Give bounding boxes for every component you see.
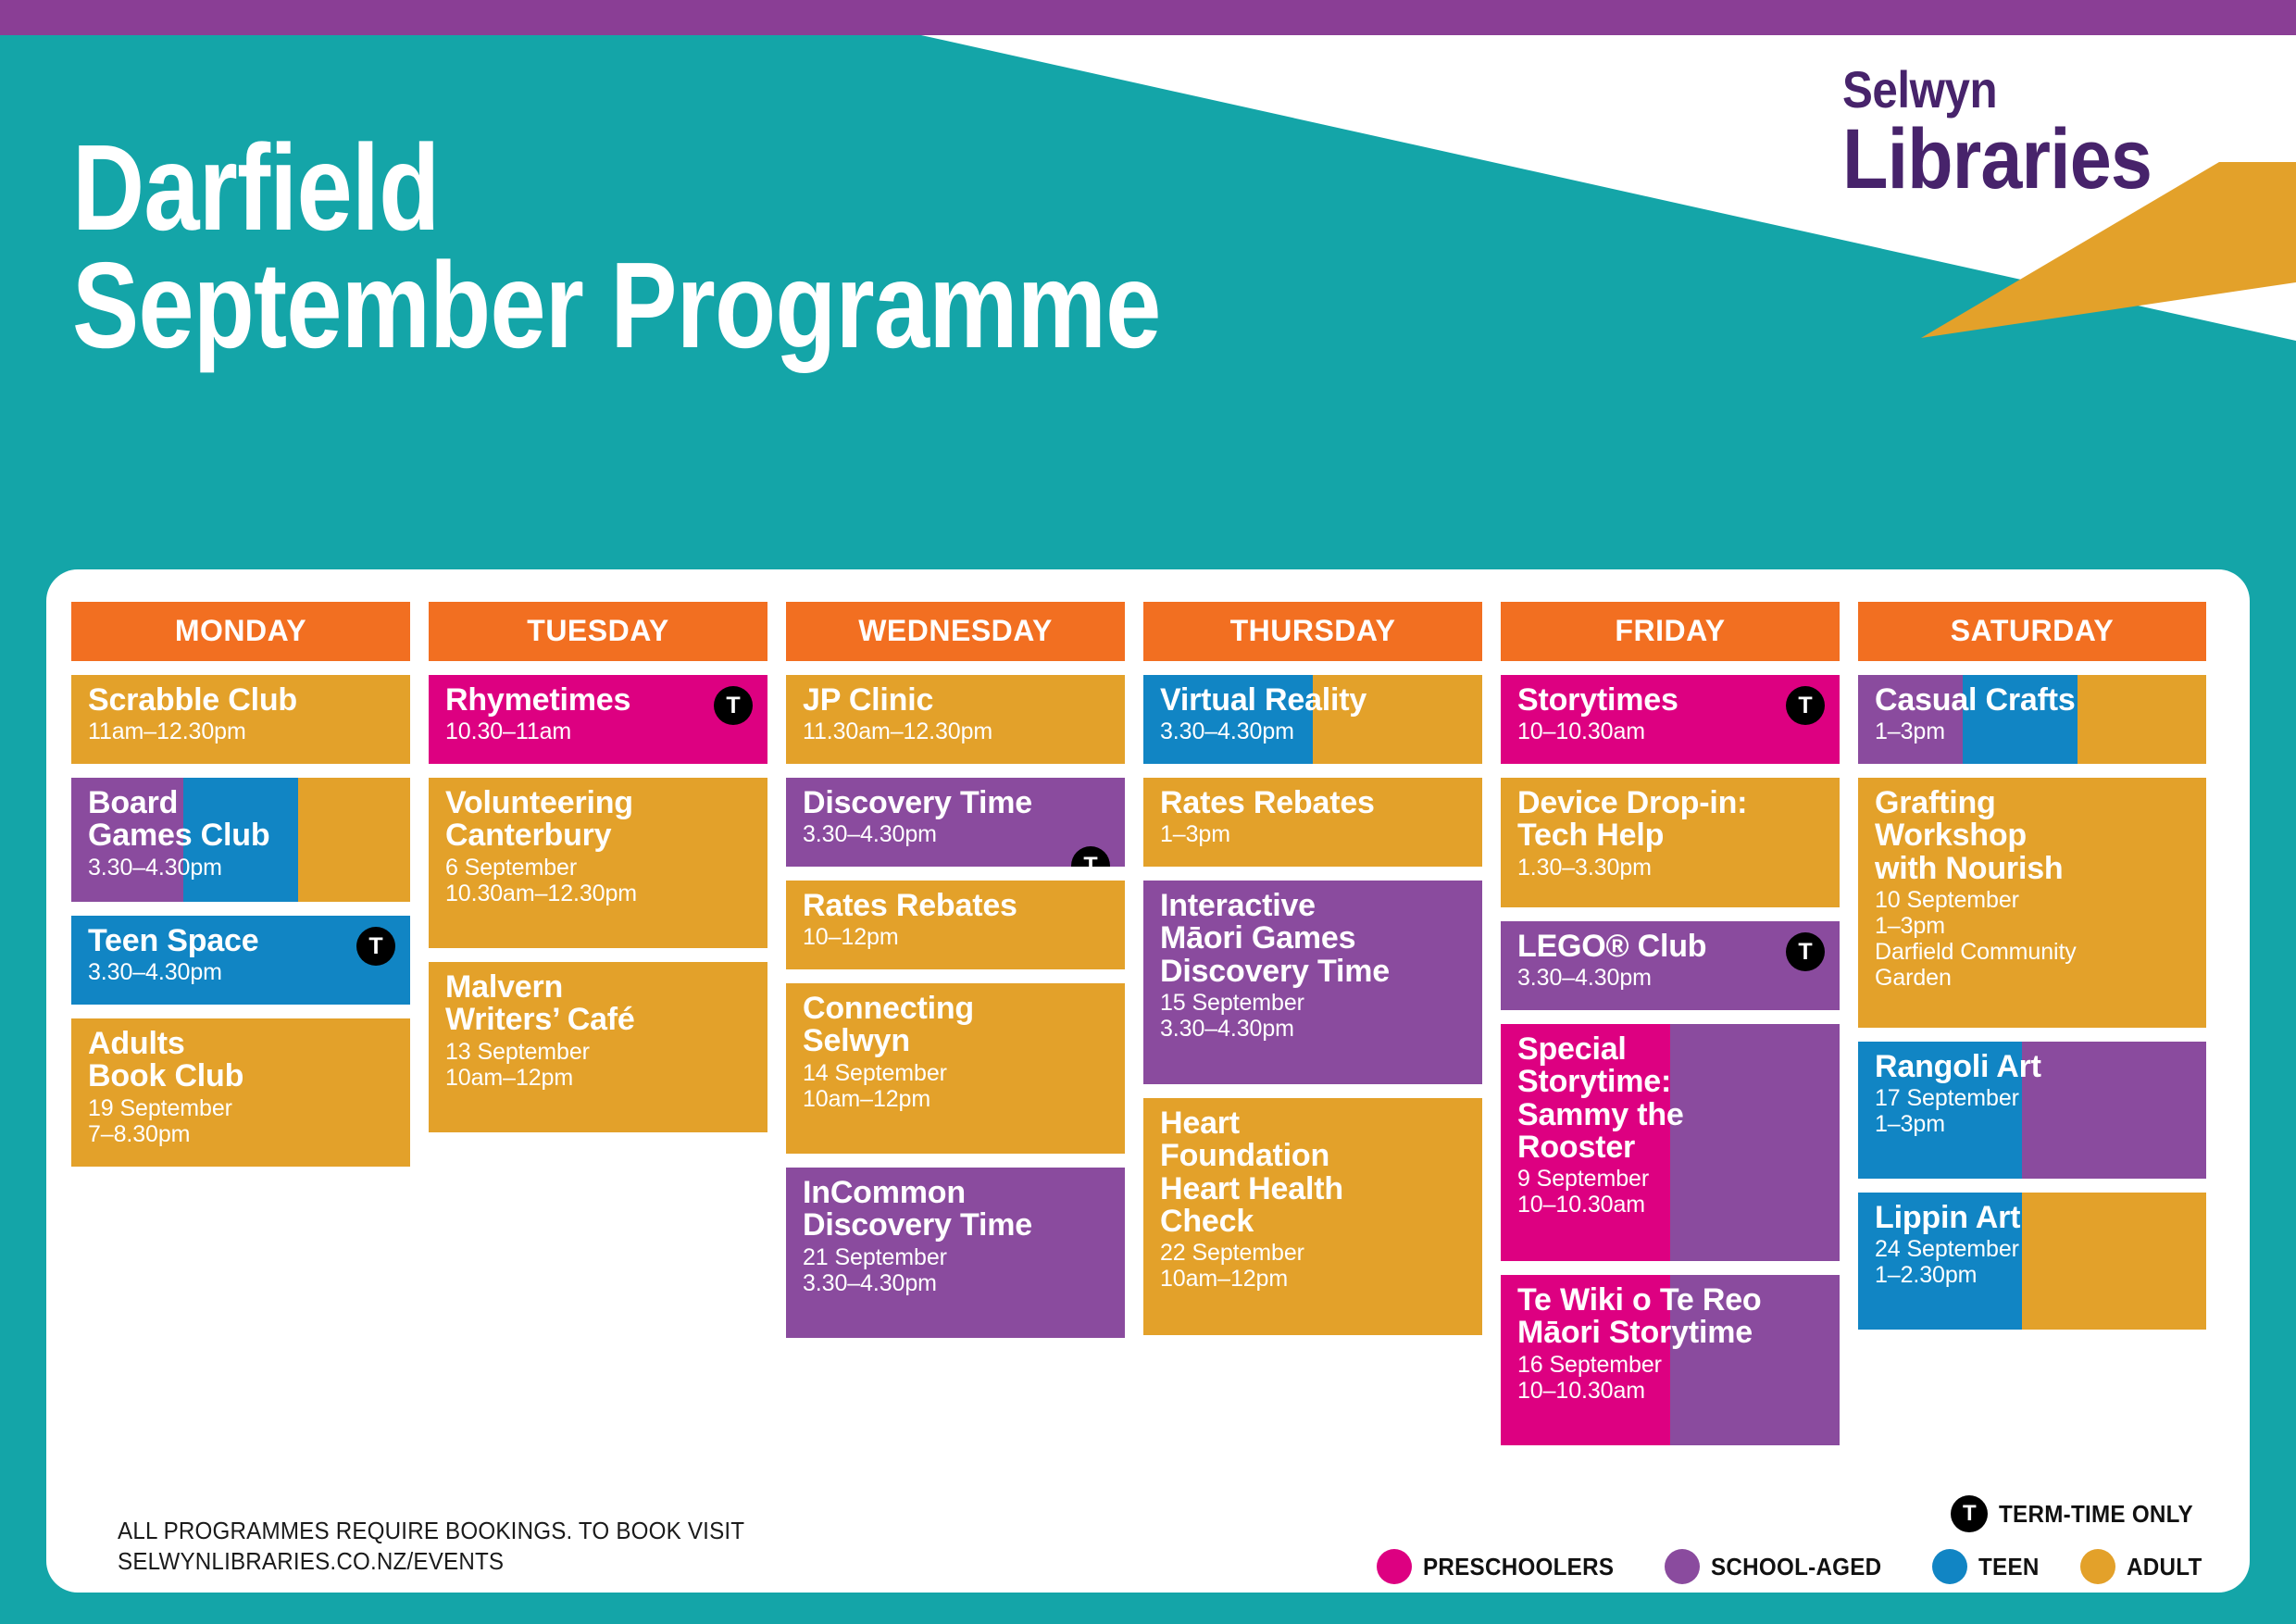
event-details: 3.30–4.30pm [88, 855, 393, 881]
legend-swatch-icon [1377, 1549, 1412, 1584]
legend-label: SCHOOL-AGED [1711, 1553, 1881, 1581]
event-card[interactable]: Virtual Reality3.30–4.30pm [1143, 675, 1482, 764]
event-card[interactable]: LEGO® Club3.30–4.30pmT [1501, 921, 1840, 1010]
day-column-saturday: SATURDAYCasual Crafts1–3pmGrafting Works… [1858, 602, 2206, 1459]
event-details: 9 September 10–10.30am [1517, 1166, 1823, 1218]
event-text: Special Storytime: Sammy the Rooster9 Se… [1517, 1033, 1823, 1218]
event-card[interactable]: Teen Space3.30–4.30pmT [71, 916, 410, 1005]
event-details: 19 September 7–8.30pm [88, 1095, 393, 1147]
event-details: 6 September 10.30am–12.30pm [445, 855, 751, 906]
event-title: Rates Rebates [803, 890, 1108, 922]
event-text: Connecting Selwyn14 September 10am–12pm [803, 993, 1108, 1112]
event-text: Heart Foundation Heart Health Check22 Se… [1160, 1107, 1466, 1292]
event-card[interactable]: Board Games Club3.30–4.30pm [71, 778, 410, 902]
event-text: Rates Rebates10–12pm [803, 890, 1108, 950]
event-details: 11.30am–12.30pm [803, 718, 1108, 744]
event-title: Lippin Art [1875, 1202, 2190, 1234]
booking-note: ALL PROGRAMMES REQUIRE BOOKINGS. TO BOOK… [118, 1516, 744, 1578]
page-title: Darfield September Programme [72, 130, 1160, 364]
day-header-wednesday: WEDNESDAY [786, 602, 1125, 661]
event-title: Device Drop-in: Tech Help [1517, 787, 1823, 853]
day-header-friday: FRIDAY [1501, 602, 1840, 661]
event-card[interactable]: Adults Book Club19 September 7–8.30pm [71, 1018, 410, 1167]
event-card[interactable]: Rangoli Art17 September 1–3pm [1858, 1042, 2206, 1179]
event-details: 22 September 10am–12pm [1160, 1240, 1466, 1292]
event-details: 10 September 1–3pm Darfield Community Ga… [1875, 887, 2190, 991]
event-card[interactable]: Heart Foundation Heart Health Check22 Se… [1143, 1098, 1482, 1335]
event-text: Volunteering Canterbury6 September 10.30… [445, 787, 751, 906]
event-details: 11am–12.30pm [88, 718, 393, 744]
event-title: Adults Book Club [88, 1028, 393, 1093]
event-text: Virtual Reality3.30–4.30pm [1160, 684, 1466, 744]
legend-item-preschoolers: PRESCHOOLERS [1377, 1549, 1628, 1584]
event-title: Connecting Selwyn [803, 993, 1108, 1058]
legend-swatch-icon [1665, 1549, 1700, 1584]
event-card[interactable]: Rates Rebates1–3pm [1143, 778, 1482, 867]
event-title: Discovery Time [803, 787, 1108, 819]
term-time-badge-icon: T [1786, 686, 1825, 725]
event-details: 21 September 3.30–4.30pm [803, 1244, 1108, 1296]
event-card[interactable]: Connecting Selwyn14 September 10am–12pm [786, 983, 1125, 1154]
legend-label: TEEN [1978, 1553, 2040, 1581]
brand-name-selwyn: Selwyn [1842, 65, 2152, 116]
event-details: 16 September 10–10.30am [1517, 1352, 1823, 1404]
event-card[interactable]: Discovery Time3.30–4.30pmT [786, 778, 1125, 867]
event-title: Board Games Club [88, 787, 393, 853]
event-title: Virtual Reality [1160, 684, 1466, 717]
event-details: 10–10.30am [1517, 718, 1823, 744]
event-text: Casual Crafts1–3pm [1875, 684, 2190, 744]
event-title: Interactive Māori Games Discovery Time [1160, 890, 1466, 988]
event-title: Malvern Writers’ Café [445, 971, 751, 1037]
event-card[interactable]: Scrabble Club11am–12.30pm [71, 675, 410, 764]
event-text: Grafting Workshop with Nourish10 Septemb… [1875, 787, 2190, 991]
event-title: Te Wiki o Te Reo Māori Storytime [1517, 1284, 1823, 1350]
event-details: 1.30–3.30pm [1517, 855, 1823, 881]
event-details: 10.30–11am [445, 718, 751, 744]
event-card[interactable]: Special Storytime: Sammy the Rooster9 Se… [1501, 1024, 1840, 1261]
event-text: Scrabble Club11am–12.30pm [88, 684, 393, 744]
event-text: Interactive Māori Games Discovery Time15… [1160, 890, 1466, 1042]
term-time-legend: T TERM-TIME ONLY [1951, 1495, 2208, 1532]
event-title: Grafting Workshop with Nourish [1875, 787, 2190, 885]
day-column-friday: FRIDAYStorytimes10–10.30amTDevice Drop-i… [1501, 602, 1840, 1459]
top-purple-bar [0, 0, 2296, 35]
event-text: Rangoli Art17 September 1–3pm [1875, 1051, 2190, 1137]
day-header-saturday: SATURDAY [1858, 602, 2206, 661]
week-grid: MONDAYScrabble Club11am–12.30pmBoard Gam… [71, 602, 2228, 1459]
legend-item-adult: ADULT [2080, 1549, 2208, 1584]
event-title: LEGO® Club [1517, 931, 1823, 963]
event-details: 3.30–4.30pm [1517, 965, 1823, 991]
event-card[interactable]: InCommon Discovery Time21 September 3.30… [786, 1168, 1125, 1338]
event-details: 1–3pm [1875, 718, 2190, 744]
event-card[interactable]: Volunteering Canterbury6 September 10.30… [429, 778, 767, 948]
event-details: 24 September 1–2.30pm [1875, 1236, 2190, 1288]
event-card[interactable]: Storytimes10–10.30amT [1501, 675, 1840, 764]
brand-name-libraries: Libraries [1842, 118, 2152, 201]
event-card[interactable]: Te Wiki o Te Reo Māori Storytime16 Septe… [1501, 1275, 1840, 1445]
day-column-wednesday: WEDNESDAYJP Clinic11.30am–12.30pmDiscove… [786, 602, 1125, 1459]
event-card[interactable]: Casual Crafts1–3pm [1858, 675, 2206, 764]
event-details: 13 September 10am–12pm [445, 1039, 751, 1091]
event-title: Storytimes [1517, 684, 1823, 717]
event-text: Rhymetimes10.30–11am [445, 684, 751, 744]
event-card[interactable]: Grafting Workshop with Nourish10 Septemb… [1858, 778, 2206, 1028]
event-details: 3.30–4.30pm [88, 959, 393, 985]
event-card[interactable]: Interactive Māori Games Discovery Time15… [1143, 881, 1482, 1084]
event-details: 17 September 1–3pm [1875, 1085, 2190, 1137]
event-title: Teen Space [88, 925, 393, 957]
programme-card: MONDAYScrabble Club11am–12.30pmBoard Gam… [46, 569, 2250, 1593]
event-title: Rates Rebates [1160, 787, 1466, 819]
event-text: Storytimes10–10.30am [1517, 684, 1823, 744]
event-title: Special Storytime: Sammy the Rooster [1517, 1033, 1823, 1164]
brand-logo: Selwyn Libraries [1842, 65, 2194, 201]
event-title: JP Clinic [803, 684, 1108, 717]
event-title: Scrabble Club [88, 684, 393, 717]
event-text: Discovery Time3.30–4.30pm [803, 787, 1108, 847]
term-time-legend-label: TERM-TIME ONLY [1999, 1500, 2193, 1529]
event-text: JP Clinic11.30am–12.30pm [803, 684, 1108, 744]
legend-swatch-icon [2080, 1549, 2115, 1584]
event-title: Rhymetimes [445, 684, 751, 717]
event-details: 14 September 10am–12pm [803, 1060, 1108, 1112]
event-text: Teen Space3.30–4.30pm [88, 925, 393, 985]
event-details: 1–3pm [1160, 821, 1466, 847]
legend-item-school-aged: SCHOOL-AGED [1665, 1549, 1894, 1584]
term-time-badge-icon: T [1786, 932, 1825, 971]
event-card[interactable]: Rhymetimes10.30–11amT [429, 675, 767, 764]
day-header-tuesday: TUESDAY [429, 602, 767, 661]
event-card[interactable]: Malvern Writers’ Café13 September 10am–1… [429, 962, 767, 1132]
day-header-monday: MONDAY [71, 602, 410, 661]
day-header-thursday: THURSDAY [1143, 602, 1482, 661]
event-title: InCommon Discovery Time [803, 1177, 1108, 1243]
event-text: Lippin Art24 September 1–2.30pm [1875, 1202, 2190, 1288]
legend-swatch-icon [1932, 1549, 1967, 1584]
event-text: Board Games Club3.30–4.30pm [88, 787, 393, 881]
event-card[interactable]: Rates Rebates10–12pm [786, 881, 1125, 969]
day-column-thursday: THURSDAYVirtual Reality3.30–4.30pmRates … [1143, 602, 1482, 1459]
event-text: Device Drop-in: Tech Help1.30–3.30pm [1517, 787, 1823, 881]
event-card[interactable]: Device Drop-in: Tech Help1.30–3.30pm [1501, 778, 1840, 907]
event-title: Casual Crafts [1875, 684, 2190, 717]
event-card[interactable]: JP Clinic11.30am–12.30pm [786, 675, 1125, 764]
event-card[interactable]: Lippin Art24 September 1–2.30pm [1858, 1193, 2206, 1330]
term-time-badge-icon: T [1951, 1495, 1988, 1532]
audience-legend: PRESCHOOLERSSCHOOL-AGEDTEENADULT [1356, 1549, 2208, 1584]
event-text: LEGO® Club3.30–4.30pm [1517, 931, 1823, 991]
event-text: Malvern Writers’ Café13 September 10am–1… [445, 971, 751, 1091]
legend-label: PRESCHOOLERS [1423, 1553, 1614, 1581]
event-title: Volunteering Canterbury [445, 787, 751, 853]
legend-label: ADULT [2127, 1553, 2202, 1581]
event-text: InCommon Discovery Time21 September 3.30… [803, 1177, 1108, 1296]
event-text: Te Wiki o Te Reo Māori Storytime16 Septe… [1517, 1284, 1823, 1404]
event-details: 10–12pm [803, 924, 1108, 950]
event-text: Rates Rebates1–3pm [1160, 787, 1466, 847]
event-details: 3.30–4.30pm [803, 821, 1108, 847]
event-details: 15 September 3.30–4.30pm [1160, 990, 1466, 1042]
term-time-badge-icon: T [714, 686, 753, 725]
day-column-monday: MONDAYScrabble Club11am–12.30pmBoard Gam… [71, 602, 410, 1459]
term-time-badge-icon: T [356, 927, 395, 966]
event-details: 3.30–4.30pm [1160, 718, 1466, 744]
legend-item-teen: TEEN [1932, 1549, 2044, 1584]
day-column-tuesday: TUESDAYRhymetimes10.30–11amTVolunteering… [429, 602, 767, 1459]
event-text: Adults Book Club19 September 7–8.30pm [88, 1028, 393, 1147]
event-title: Heart Foundation Heart Health Check [1160, 1107, 1466, 1238]
event-title: Rangoli Art [1875, 1051, 2190, 1083]
